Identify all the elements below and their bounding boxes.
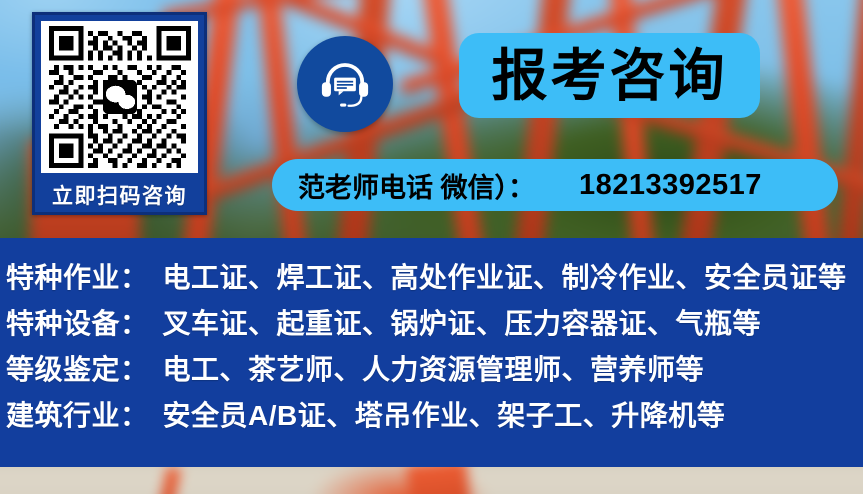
contact-label: 范老师电话 微信）： — [298, 166, 535, 205]
category-value: 叉车证、起重证、锅炉证、压力容器证、气瓶等 — [163, 302, 762, 342]
category-label: 特种作业： — [6, 256, 149, 296]
promo-poster: 立即扫码咨询 报考咨询 范老师电话 微信）： — [0, 0, 863, 494]
category-value: 电工、茶艺师、人力资源管理师、营养师等 — [163, 348, 705, 388]
category-label: 建筑行业： — [6, 394, 149, 434]
qr-caption: 立即扫码咨询 — [41, 173, 198, 217]
crane-beam — [153, 467, 181, 494]
contact-phone-number[interactable]: 18213392517 — [579, 169, 762, 202]
title-badge: 报考咨询 — [459, 33, 760, 118]
bottom-photo-blur — [0, 467, 863, 494]
qr-code-surface — [41, 21, 198, 173]
crane-beam — [406, 467, 474, 494]
category-row: 特种设备： 叉车证、起重证、锅炉证、压力容器证、气瓶等 — [0, 302, 863, 348]
qr-code-icon — [49, 26, 191, 168]
category-label: 等级鉴定： — [6, 348, 149, 388]
crane-beam — [837, 0, 863, 240]
category-row: 建筑行业： 安全员A/B证、塔吊作业、架子工、升降机等 — [0, 394, 863, 440]
title-badge-text: 报考咨询 — [492, 48, 728, 104]
headset-glyph — [316, 55, 374, 113]
category-row: 等级鉴定： 电工、茶艺师、人力资源管理师、营养师等 — [0, 348, 863, 394]
certificate-categories-panel: 特种作业： 电工证、焊工证、高处作业证、制冷作业、安全员证等 特种设备： 叉车证… — [0, 238, 863, 467]
bottom-photo-strip — [0, 467, 863, 494]
contact-bar[interactable]: 范老师电话 微信）： 18213392517 — [272, 159, 838, 211]
category-value: 安全员A/B证、塔吊作业、架子工、升降机等 — [163, 394, 726, 434]
category-row: 特种作业： 电工证、焊工证、高处作业证、制冷作业、安全员证等 — [0, 256, 863, 302]
headset-support-icon[interactable] — [297, 36, 393, 132]
category-label: 特种设备： — [6, 302, 149, 342]
category-value: 电工证、焊工证、高处作业证、制冷作业、安全员证等 — [163, 256, 847, 296]
qr-code-card[interactable]: 立即扫码咨询 — [32, 12, 207, 215]
